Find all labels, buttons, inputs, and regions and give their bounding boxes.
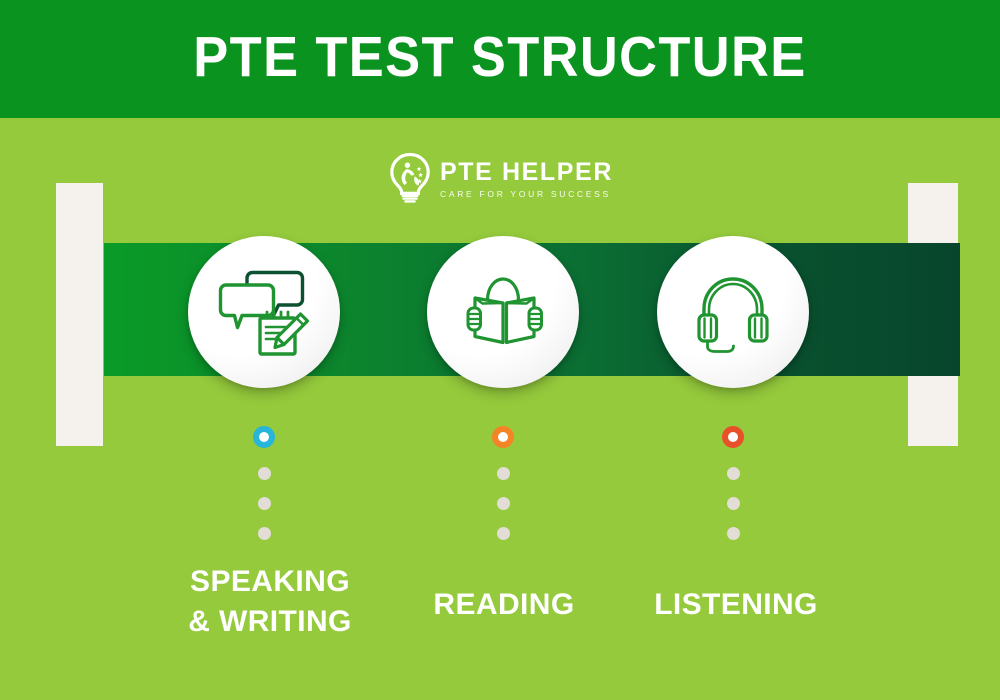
brand-name: PTE HELPER [440, 159, 613, 185]
connector-dot [727, 527, 740, 540]
connector-dot [727, 497, 740, 510]
connector-dot [258, 497, 271, 510]
headphones-icon [693, 270, 773, 354]
connector-dot [497, 467, 510, 480]
stage-circle-speaking-writing[interactable] [188, 236, 340, 388]
stage-label-reading: READING [400, 585, 608, 625]
brand-logo: PTE HELPER CARE FOR YOUR SUCCESS [387, 152, 613, 204]
connector-dots-speaking-writing [249, 426, 279, 540]
stage-label-speaking-writing: SPEAKING & WRITING [164, 562, 376, 642]
stage-circle-reading[interactable] [427, 236, 579, 388]
speech-bubbles-notepad-pencil-icon [216, 266, 312, 358]
lightbulb-person-stars-icon [387, 152, 433, 204]
connector-dot [497, 527, 510, 540]
connector-dot [497, 497, 510, 510]
stage-marker-listening[interactable] [722, 426, 744, 448]
connector-dot [258, 527, 271, 540]
stage-circle-listening[interactable] [657, 236, 809, 388]
decorative-bar-left [56, 183, 103, 446]
page-title: PTE TEST STRUCTURE [40, 0, 960, 118]
connector-dots-reading [488, 426, 518, 540]
connector-dot [727, 467, 740, 480]
person-reading-book-icon [460, 272, 546, 352]
brand-text: PTE HELPER CARE FOR YOUR SUCCESS [440, 157, 613, 198]
connector-dot [258, 467, 271, 480]
stage-label-listening: LISTENING [630, 585, 842, 625]
stage-marker-reading[interactable] [492, 426, 514, 448]
stage-marker-speaking-writing[interactable] [253, 426, 275, 448]
connector-dots-listening [718, 426, 748, 540]
brand-tagline: CARE FOR YOUR SUCCESS [440, 189, 611, 199]
infographic-canvas: PTE TEST STRUCTURE [0, 0, 1000, 700]
